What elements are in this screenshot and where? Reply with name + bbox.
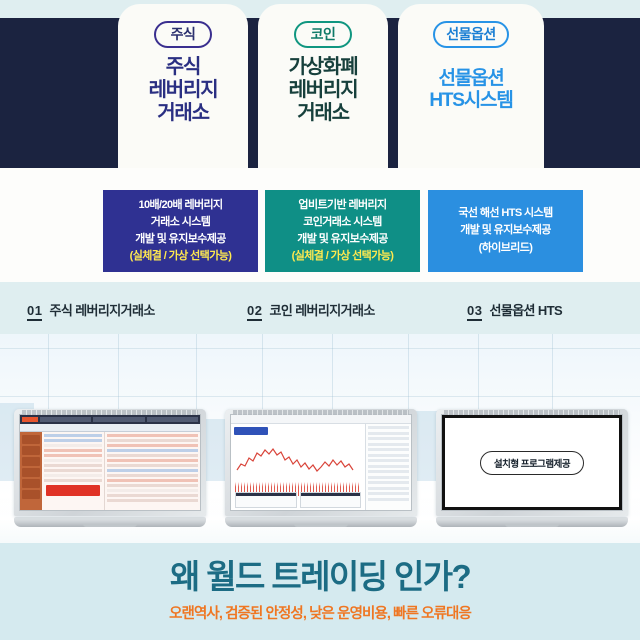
orderbook-row <box>44 464 102 467</box>
info-box-strip: 10배/20배 레버리지 거래소 시스템 개발 및 유지보수제공 (실체결 / … <box>0 190 640 282</box>
chart-titlebar <box>231 415 411 424</box>
footer-band: 왜 월드 트레이딩 인가? 오랜역사, 검증된 안정성, 낮은 운영비용, 빠른… <box>0 543 640 640</box>
window-line <box>0 396 640 397</box>
installer-label: 설치형 프로그램제공 <box>480 451 584 475</box>
sidebar-icon <box>22 446 40 455</box>
quote-row <box>107 454 198 457</box>
chart-body <box>231 424 411 511</box>
info-highlight: (실체결 / 가상 선택가능) <box>130 248 232 265</box>
installer-screen: 설치형 프로그램제공 <box>442 415 622 510</box>
quote-row <box>107 494 198 497</box>
laptop-base <box>14 517 206 527</box>
laptop-lid <box>225 409 417 516</box>
quote-row <box>107 474 198 477</box>
market-row <box>368 498 409 501</box>
trackpad <box>505 524 559 527</box>
titlebar-menu <box>147 417 198 422</box>
title-line: 가상화폐 <box>289 56 358 79</box>
laptop-lid: 설치형 프로그램제공 <box>436 409 628 516</box>
header-card-stock-title: 주식 레버리지 거래소 <box>149 56 218 126</box>
quote-row <box>107 439 198 442</box>
orderbook-row <box>44 479 102 482</box>
keyboard <box>233 410 409 415</box>
orderbook-row <box>44 449 102 452</box>
laptop-lid <box>14 409 206 516</box>
market-row <box>368 443 409 446</box>
title-line: 거래소 <box>289 102 358 125</box>
market-row <box>368 465 409 468</box>
market-row <box>368 459 409 462</box>
quote-table <box>105 432 200 511</box>
badge-coin: 코인 <box>294 21 353 48</box>
badge-stock: 주식 <box>154 21 213 48</box>
trackpad <box>83 524 137 527</box>
section-number: 03 <box>467 303 482 321</box>
title-line: 주식 <box>149 56 218 79</box>
section-title: 코인 레버리지거래소 <box>269 300 374 319</box>
title-line: 레버리지 <box>289 79 358 102</box>
orderbook-row <box>44 469 102 472</box>
price-line-chart <box>235 440 355 482</box>
terminal-tabbar <box>20 424 200 432</box>
market-row <box>368 487 409 490</box>
market-row <box>368 426 409 429</box>
orderbook-row <box>44 474 102 477</box>
market-row <box>368 476 409 479</box>
market-row <box>368 437 409 440</box>
orderbook-row <box>44 459 102 462</box>
info-box-stock: 10배/20배 레버리지 거래소 시스템 개발 및 유지보수제공 (실체결 / … <box>103 190 258 272</box>
header-card-futures-title: 선물옵션 HTS시스템 <box>429 68 512 112</box>
orderbook-panel <box>42 432 105 511</box>
promo-page: 주식 주식 레버리지 거래소 코인 가상화폐 레버리지 거래소 선물옵션 선물옵… <box>0 0 640 640</box>
titlebar-menu <box>40 417 91 422</box>
header-card-coin[interactable]: 코인 가상화폐 레버리지 거래소 <box>258 4 388 168</box>
footer-subline: 오랜역사, 검증된 안정성, 낮은 운영비용, 빠른 오류대응 <box>169 602 471 623</box>
header-card-stock[interactable]: 주식 주식 레버리지 거래소 <box>118 4 248 168</box>
info-line: (하이브리드) <box>479 240 533 257</box>
market-row <box>368 492 409 495</box>
info-line: 10배/20배 레버리지 <box>138 197 222 214</box>
info-line: 국선 해선 HTS 시스템 <box>458 205 552 222</box>
section-label-03: 03 선물옵션 HTS <box>467 300 562 321</box>
trackpad <box>294 524 348 527</box>
orderbook-row <box>44 444 102 447</box>
terminal-titlebar <box>20 415 200 424</box>
title-line: 거래소 <box>149 102 218 125</box>
order-submit-button[interactable] <box>46 485 100 496</box>
orderbook-row <box>44 454 102 457</box>
titlebar-logo <box>22 417 38 422</box>
info-line: 개발 및 유지보수제공 <box>460 222 551 239</box>
sidebar-icon <box>22 479 40 488</box>
info-line: 개발 및 유지보수제공 <box>135 231 226 248</box>
market-row <box>368 481 409 484</box>
info-box-coin: 업비트기반 레버리지 코인거래소 시스템 개발 및 유지보수제공 (실체결 / … <box>265 190 420 272</box>
info-line: 거래소 시스템 <box>151 214 211 231</box>
title-line: HTS시스템 <box>429 90 512 112</box>
badge-futures: 선물옵션 <box>433 21 509 48</box>
footer-headline: 왜 월드 트레이딩 인가? <box>170 560 470 593</box>
quote-row <box>107 479 198 482</box>
sidebar-icon <box>22 457 40 466</box>
laptop-futures: 설치형 프로그램제공 <box>436 409 628 527</box>
laptop-coin <box>225 409 417 527</box>
info-highlight: (실체결 / 가상 선택가능) <box>292 248 394 265</box>
header-card-coin-title: 가상화폐 레버리지 거래소 <box>289 56 358 126</box>
laptop-screen-stock[interactable] <box>19 414 201 511</box>
laptop-screen-futures[interactable]: 설치형 프로그램제공 <box>441 414 623 511</box>
quote-row <box>107 444 198 447</box>
sidebar-icon <box>22 435 40 444</box>
laptop-stock <box>14 409 206 527</box>
header-card-futures[interactable]: 선물옵션 선물옵션 HTS시스템 <box>398 4 544 168</box>
quote-row <box>107 499 198 502</box>
section-title: 주식 레버리지거래소 <box>49 300 154 319</box>
market-row <box>368 454 409 457</box>
chart-panel <box>231 424 365 511</box>
section-label-row: 01 주식 레버리지거래소 02 코인 레버리지거래소 03 선물옵션 HTS <box>0 300 640 334</box>
quote-row <box>107 489 198 492</box>
white-divider <box>0 168 640 190</box>
orderbook-row <box>44 434 102 437</box>
laptop-photo-area: 설치형 프로그램제공 <box>0 334 640 543</box>
order-panels <box>235 492 361 508</box>
terminal-sidebar[interactable] <box>20 432 42 511</box>
info-line: 개발 및 유지보수제공 <box>297 231 388 248</box>
info-line: 업비트기반 레버리지 <box>298 197 386 214</box>
sidebar-icon <box>22 490 40 499</box>
market-list[interactable] <box>365 424 411 511</box>
sidebar-icon <box>22 468 40 477</box>
quote-row <box>107 434 198 437</box>
info-line: 코인거래소 시스템 <box>303 214 382 231</box>
keyboard <box>22 410 198 415</box>
window-line <box>0 348 640 349</box>
section-label-02: 02 코인 레버리지거래소 <box>247 300 375 321</box>
titlebar-menu <box>93 417 144 422</box>
orderbook-row <box>44 439 102 442</box>
buy-panel[interactable] <box>235 492 297 508</box>
laptop-screen-coin[interactable] <box>230 414 412 511</box>
header-card-row: 주식 주식 레버리지 거래소 코인 가상화폐 레버리지 거래소 선물옵션 선물옵… <box>0 0 640 172</box>
laptop-base <box>436 517 628 527</box>
quote-row <box>107 449 198 452</box>
quote-row <box>107 469 198 472</box>
symbol-tag <box>234 427 268 435</box>
keyboard <box>444 410 620 415</box>
section-number: 02 <box>247 303 262 321</box>
laptop-base <box>225 517 417 527</box>
section-title: 선물옵션 HTS <box>489 300 562 319</box>
quote-row <box>107 464 198 467</box>
title-line: 레버리지 <box>149 79 218 102</box>
sell-panel[interactable] <box>300 492 362 508</box>
market-row <box>368 448 409 451</box>
terminal-body <box>20 432 200 511</box>
terminal-main <box>42 432 200 511</box>
market-row <box>368 432 409 435</box>
section-label-01: 01 주식 레버리지거래소 <box>27 300 155 321</box>
title-line: 선물옵션 <box>429 68 512 90</box>
quote-row <box>107 459 198 462</box>
info-box-futures: 국선 해선 HTS 시스템 개발 및 유지보수제공 (하이브리드) <box>428 190 583 272</box>
section-number: 01 <box>27 303 42 321</box>
market-row <box>368 470 409 473</box>
quote-row <box>107 484 198 487</box>
